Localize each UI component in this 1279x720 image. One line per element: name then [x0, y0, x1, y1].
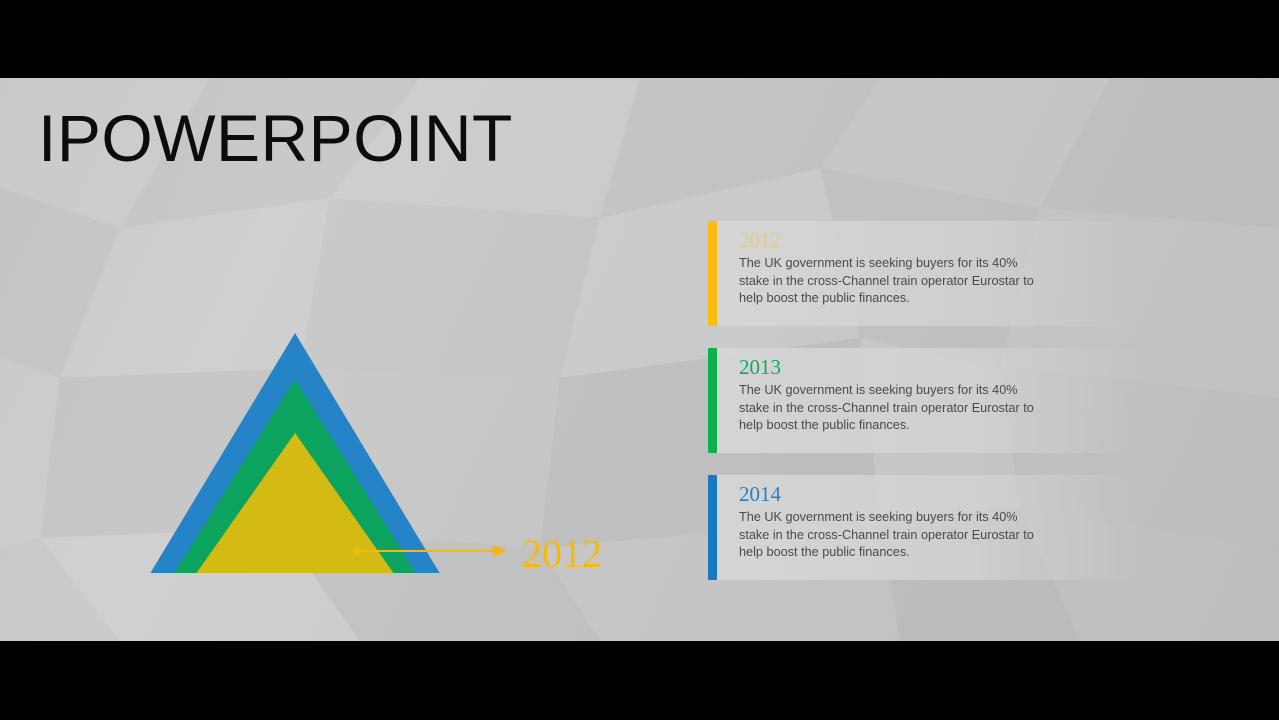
slide-canvas: IPOWERPOINT	[0, 78, 1279, 641]
card-text-2013: The UK government is seeking buyers for …	[739, 382, 1051, 435]
info-card-2014[interactable]: 2014 The UK government is seeking buyers…	[708, 475, 1138, 580]
callout-label-2012: 2012	[522, 531, 602, 573]
card-accent-bar-2012	[708, 221, 717, 326]
letterbox-top	[0, 0, 1279, 78]
info-card-list: 2012 The UK government is seeking buyers…	[708, 221, 1138, 602]
page-title: IPOWERPOINT	[38, 105, 513, 171]
info-card-2013[interactable]: 2013 The UK government is seeking buyers…	[708, 348, 1138, 453]
card-body-2013: 2013 The UK government is seeking buyers…	[717, 348, 1138, 453]
callout-label-2013: 2013	[538, 571, 618, 573]
card-heading-2012: 2012	[739, 227, 1124, 253]
card-heading-2013: 2013	[739, 354, 1124, 380]
info-card-2012[interactable]: 2012 The UK government is seeking buyers…	[708, 221, 1138, 326]
card-text-2012: The UK government is seeking buyers for …	[739, 255, 1051, 308]
pyramid-diagram: 2012 2013 2014	[60, 233, 680, 573]
card-body-2014: 2014 The UK government is seeking buyers…	[717, 475, 1138, 580]
card-body-2012: 2012 The UK government is seeking buyers…	[717, 221, 1138, 326]
card-accent-bar-2013	[708, 348, 717, 453]
card-text-2014: The UK government is seeking buyers for …	[739, 509, 1051, 562]
letterbox-bottom	[0, 641, 1279, 720]
card-heading-2014: 2014	[739, 481, 1124, 507]
slide-stage: IPOWERPOINT	[0, 0, 1279, 720]
card-accent-bar-2014	[708, 475, 717, 580]
